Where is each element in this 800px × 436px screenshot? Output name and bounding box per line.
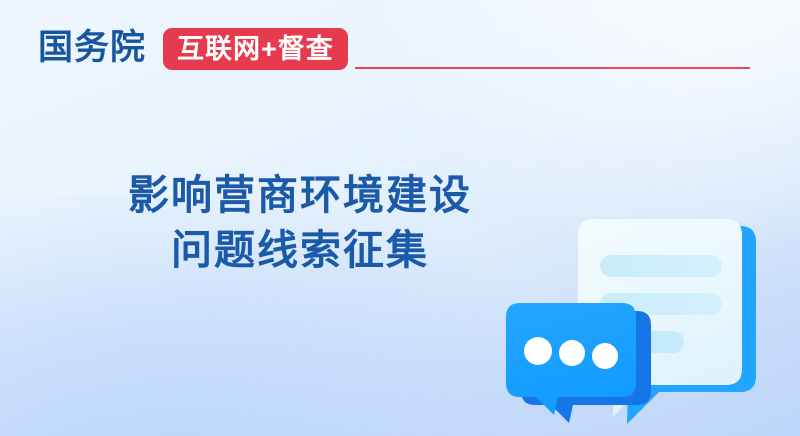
banner-header: 国务院 互联网+督查 <box>0 0 800 100</box>
program-badge-label: 互联网+督查 <box>177 36 334 63</box>
program-badge[interactable]: 互联网+督查 <box>163 28 348 70</box>
banner-root: 国务院 互联网+督查 影响营商环境建设 问题线索征集 <box>0 0 800 436</box>
organization-name: 国务院 <box>38 27 146 69</box>
header-divider-rule <box>355 67 750 69</box>
speech-bubbles-illustration <box>480 205 800 436</box>
